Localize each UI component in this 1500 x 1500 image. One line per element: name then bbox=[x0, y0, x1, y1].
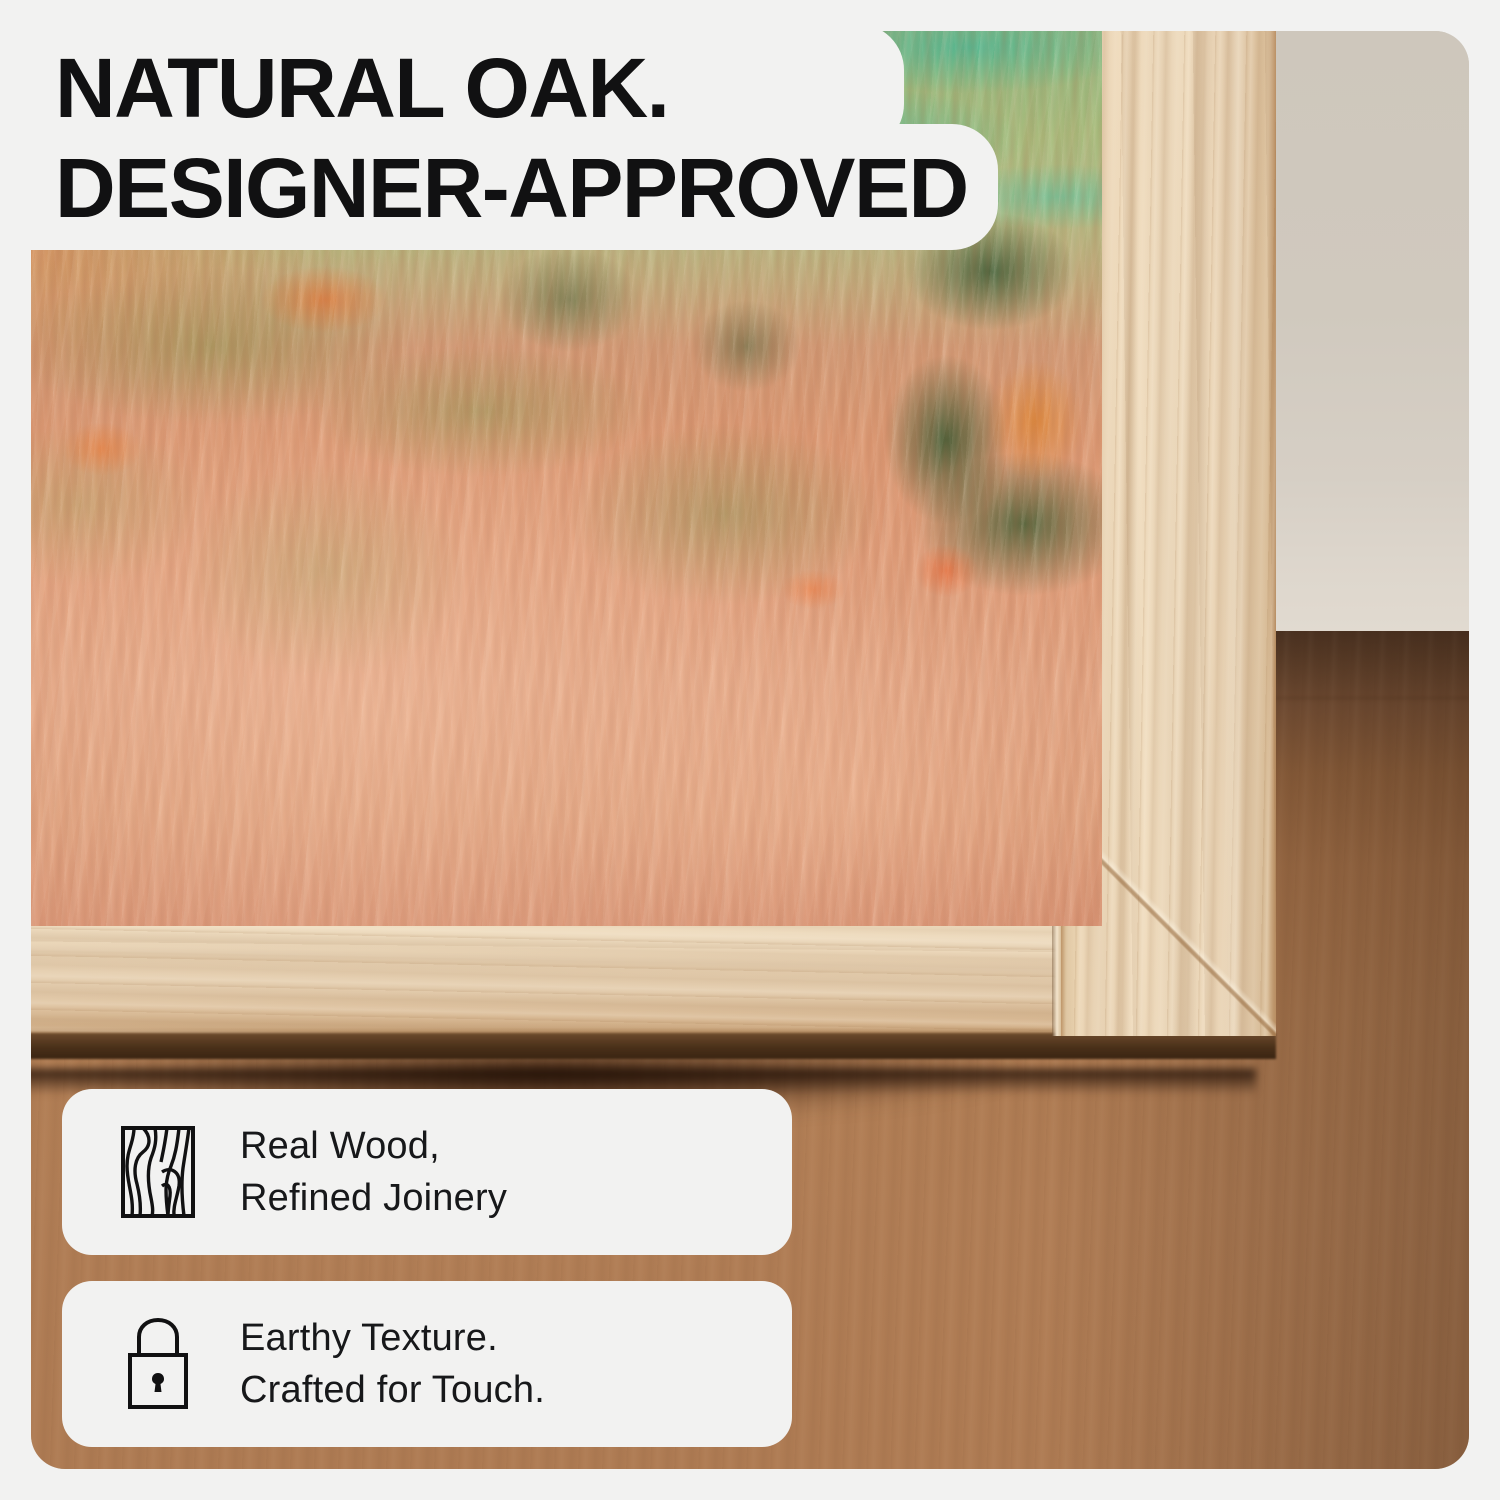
frame-bottom-edge bbox=[31, 1033, 1276, 1059]
headline-line-1-row: NATURAL OAK. bbox=[0, 38, 669, 138]
feature-badge-earthy-texture-label: Earthy Texture. Crafted for Touch. bbox=[240, 1312, 545, 1416]
feature-badge-list: Real Wood, Refined Joinery Earthy Textur… bbox=[62, 1089, 792, 1447]
padlock-icon bbox=[112, 1313, 204, 1415]
headline-line-1: NATURAL OAK. bbox=[0, 38, 669, 138]
headline-line-2-row: DESIGNER-APPROVED bbox=[0, 138, 968, 238]
headline: NATURAL OAK. DESIGNER-APPROVED bbox=[0, 38, 968, 238]
wood-grain-icon bbox=[112, 1121, 204, 1223]
feature-badge-real-wood: Real Wood, Refined Joinery bbox=[62, 1089, 792, 1255]
product-feature-card: NATURAL OAK. DESIGNER-APPROVED bbox=[0, 0, 1500, 1500]
feature-badge-real-wood-label: Real Wood, Refined Joinery bbox=[240, 1120, 507, 1224]
headline-line-2: DESIGNER-APPROVED bbox=[0, 138, 968, 238]
feature-badge-earthy-texture: Earthy Texture. Crafted for Touch. bbox=[62, 1281, 792, 1447]
